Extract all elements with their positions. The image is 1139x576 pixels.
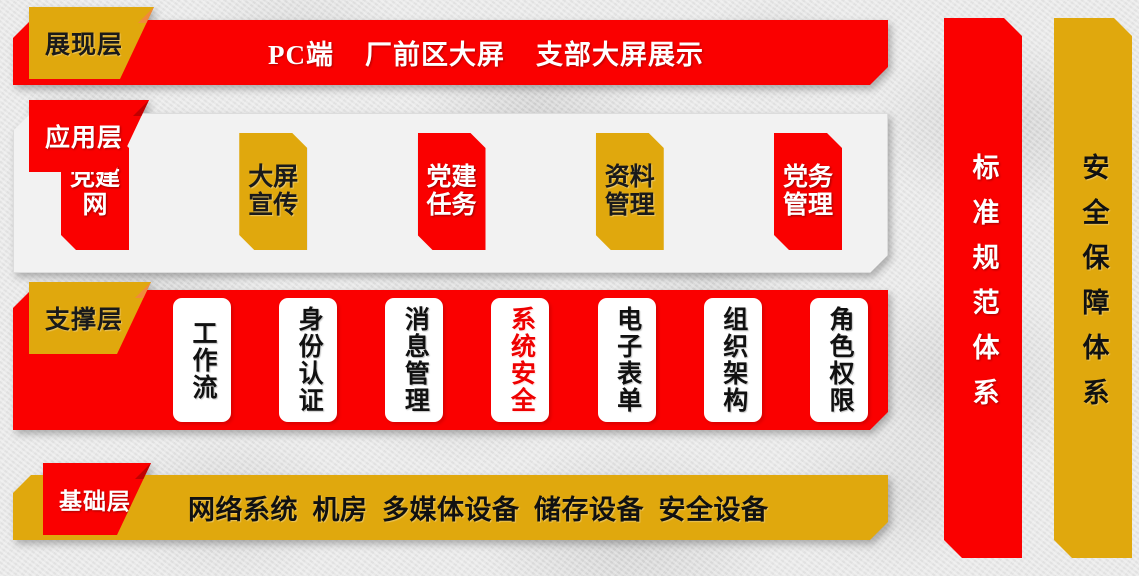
support-card-gongzuoliu[interactable]: 工作流 bbox=[173, 298, 231, 422]
support-card-juese-quanxian[interactable]: 角色权限 bbox=[810, 298, 868, 422]
support-cards-container: 工作流 身份认证 消息管理 系统安全 电子表单 组织架构 角色权限 bbox=[173, 298, 868, 422]
app-card-label: 党建任务 bbox=[425, 164, 478, 219]
support-layer-row: 工作流 身份认证 消息管理 系统安全 电子表单 组织架构 角色权限 支撑层 bbox=[13, 290, 888, 430]
pillar-label: 标准规范体系 bbox=[970, 153, 997, 423]
support-card-label: 电子表单 bbox=[613, 306, 641, 414]
pillar-standard-specification[interactable]: 标准规范体系 bbox=[944, 18, 1022, 558]
app-card-ziliao-guanli[interactable]: 资料管理 bbox=[596, 133, 664, 250]
app-card-label: 资料管理 bbox=[604, 164, 657, 219]
application-cards-container: 党建网 大屏宣传 党建任务 资料管理 党务管理 bbox=[61, 133, 842, 250]
app-card-label: 党务管理 bbox=[782, 164, 835, 219]
support-card-label: 角色权限 bbox=[825, 306, 853, 414]
foundation-layer-bar: 网络系统 机房 多媒体设备 储存设备 安全设备 bbox=[13, 475, 888, 540]
foundation-layer-items: 网络系统 机房 多媒体设备 储存设备 安全设备 bbox=[188, 475, 888, 540]
layer-tag-support-label: 支撑层 bbox=[45, 300, 123, 336]
layer-tag-application-label: 应用层 bbox=[45, 118, 123, 154]
app-card-label: 大屏宣传 bbox=[247, 164, 300, 219]
support-card-dianzi-biaodan[interactable]: 电子表单 bbox=[598, 298, 656, 422]
support-card-label: 身份认证 bbox=[294, 306, 322, 414]
support-card-zuzhi-jiagou[interactable]: 组织架构 bbox=[704, 298, 762, 422]
app-card-dangjian-renwu[interactable]: 党建任务 bbox=[418, 133, 486, 250]
support-card-xiaoxi-guanli[interactable]: 消息管理 bbox=[385, 298, 443, 422]
foundation-layer-row: 网络系统 机房 多媒体设备 储存设备 安全设备 基础层 bbox=[13, 475, 888, 540]
support-card-label: 组织架构 bbox=[719, 306, 747, 414]
support-card-label: 工作流 bbox=[188, 320, 216, 401]
layer-tag-presentation-label: 展现层 bbox=[45, 25, 123, 61]
presentation-layer-bar: PC端 厂前区大屏 支部大屏展示 bbox=[13, 20, 888, 85]
pillar-label: 安全保障体系 bbox=[1080, 153, 1107, 423]
presentation-layer-row: PC端 厂前区大屏 支部大屏展示 展现层 bbox=[13, 20, 888, 85]
app-card-dangwu-guanli[interactable]: 党务管理 bbox=[774, 133, 842, 250]
support-card-xitong-anquan[interactable]: 系统安全 bbox=[491, 298, 549, 422]
support-card-shenfen-renzheng[interactable]: 身份认证 bbox=[279, 298, 337, 422]
app-card-daping-xuanchuan[interactable]: 大屏宣传 bbox=[239, 133, 307, 250]
app-card-label: 党建网 bbox=[69, 164, 122, 219]
support-card-label: 消息管理 bbox=[400, 306, 428, 414]
pillar-security-guarantee[interactable]: 安全保障体系 bbox=[1054, 18, 1132, 558]
architecture-diagram: PC端 厂前区大屏 支部大屏展示 展现层 党建网 大屏宣传 党建任务 资料管理 … bbox=[0, 0, 1139, 576]
support-card-label: 系统安全 bbox=[506, 306, 534, 414]
presentation-layer-items: PC端 厂前区大屏 支部大屏展示 bbox=[268, 20, 888, 85]
application-layer-row: 党建网 大屏宣传 党建任务 资料管理 党务管理 应用层 bbox=[13, 113, 888, 273]
layer-tag-foundation-label: 基础层 bbox=[59, 482, 131, 516]
